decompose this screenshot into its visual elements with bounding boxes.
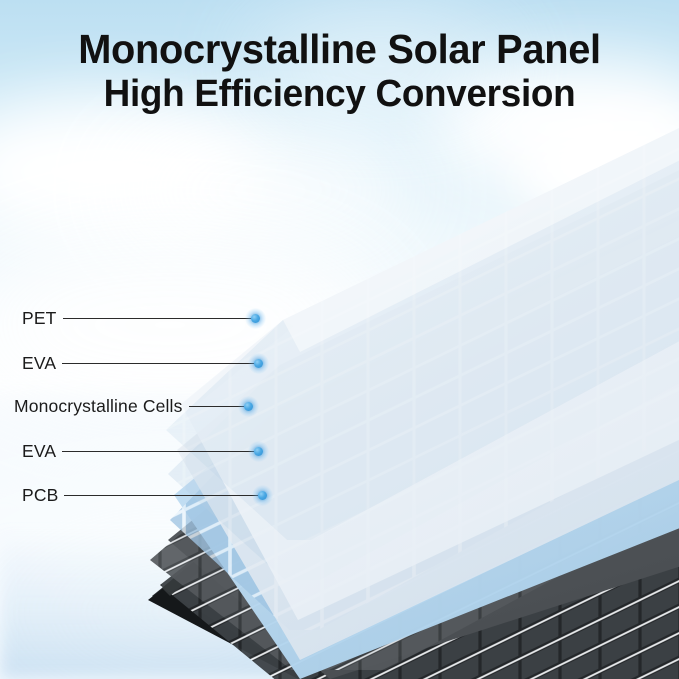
leader-line [63, 318, 255, 319]
leader-line [62, 363, 258, 364]
callout-label-eva-top: EVA [22, 355, 56, 373]
callout-label-pet: PET [22, 310, 57, 328]
connector-dot [251, 314, 260, 323]
callout-labels: PET EVA Monocrystalline Cells EVA PCB [0, 0, 679, 679]
callout-label-pcb: PCB [22, 487, 58, 505]
callout-label-eva-bottom: EVA [22, 443, 56, 461]
connector-dot [244, 402, 253, 411]
connector-dot [258, 491, 267, 500]
leader-line [62, 451, 258, 452]
callout-eva-bottom: EVA [22, 443, 263, 461]
connector-dot [254, 359, 263, 368]
callout-eva-top: EVA [22, 355, 263, 373]
leader-line [64, 495, 262, 496]
product-infographic: PET EVA Monocrystalline Cells EVA PCB Mo… [0, 0, 679, 679]
connector-dot [254, 447, 263, 456]
callout-pet: PET [22, 310, 260, 328]
callout-monocrystalline-cells: Monocrystalline Cells [14, 398, 253, 416]
callout-pcb: PCB [22, 487, 267, 505]
callout-label-monocrystalline-cells: Monocrystalline Cells [14, 398, 183, 416]
